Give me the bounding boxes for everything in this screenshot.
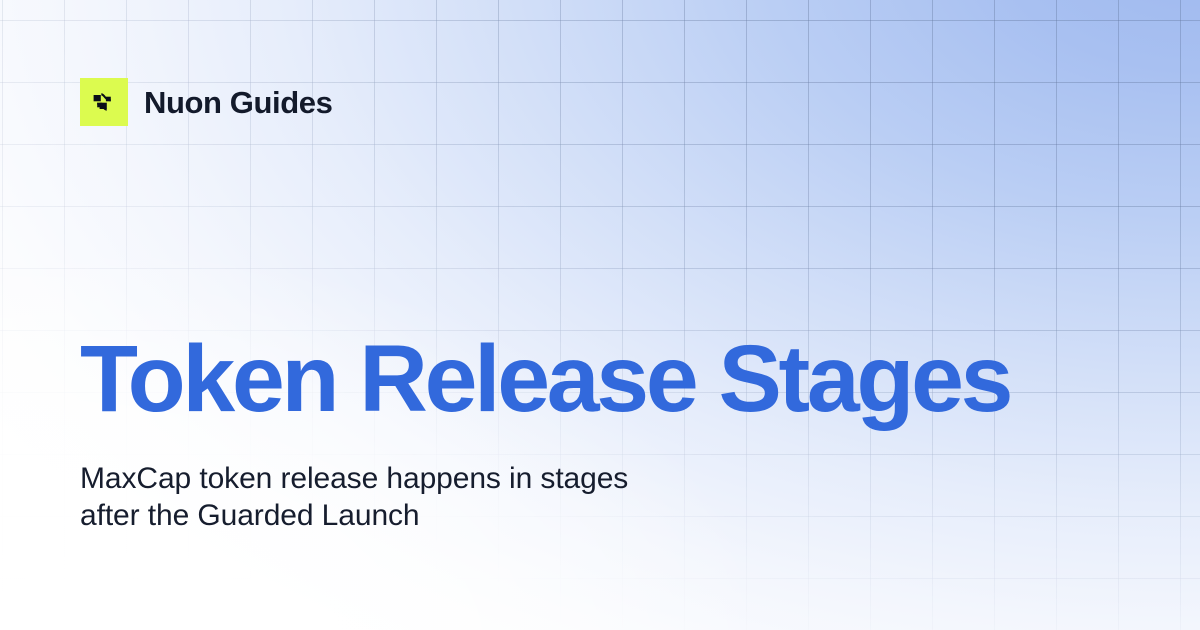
page-subtitle-line-1: MaxCap token release happens in stages	[80, 460, 840, 497]
page-subtitle: MaxCap token release happens in stages a…	[80, 427, 840, 534]
brand-name: Nuon Guides	[144, 87, 333, 118]
og-card: Nuon Guides Token Release Stages MaxCap …	[0, 0, 1200, 630]
nuon-logo-mark-icon	[89, 87, 119, 117]
brand-lockup: Nuon Guides	[80, 78, 333, 126]
hero-text-block: Token Release Stages MaxCap token releas…	[80, 332, 1140, 534]
brand-logo-badge	[80, 78, 128, 126]
page-subtitle-line-2: after the Guarded Launch	[80, 497, 840, 534]
page-title: Token Release Stages	[80, 332, 1140, 427]
